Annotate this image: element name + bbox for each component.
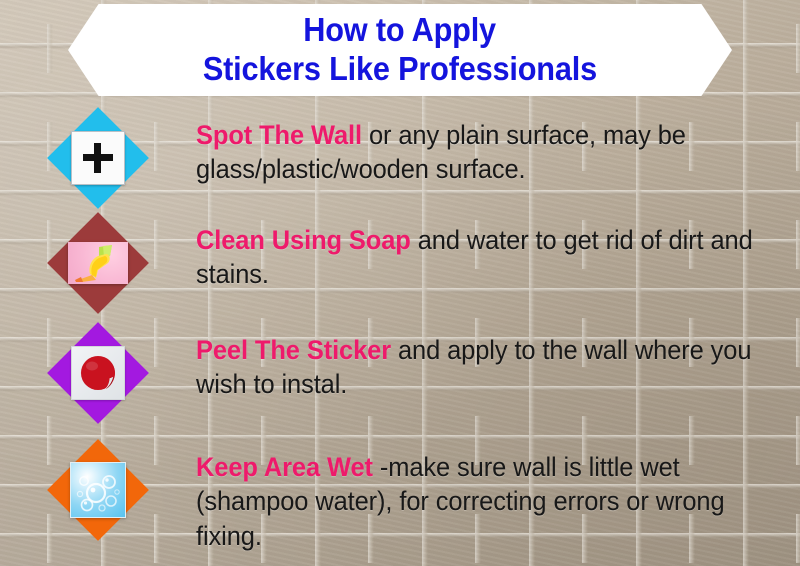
step-2-diamond [47, 212, 149, 314]
step-3-icon-cell [0, 323, 196, 409]
step-1-diamond [47, 107, 149, 209]
title-line-2: Stickers Like Professionals [203, 50, 597, 89]
infographic-canvas: How to Apply Stickers Like Professionals… [0, 0, 800, 566]
peeling-sticker-icon [71, 346, 125, 400]
step-4-lead: Keep Area Wet [196, 452, 373, 482]
step-row-4: Keep Area Wet -make sure wall is little … [0, 440, 800, 553]
step-3-lead: Peel The Sticker [196, 335, 391, 365]
cleaning-glove-icon [68, 242, 128, 284]
step-row-3: Peel The Sticker and apply to the wall w… [0, 323, 800, 409]
title-banner: How to Apply Stickers Like Professionals [68, 4, 732, 96]
step-4-diamond [47, 439, 149, 541]
glove-sponge-graphic [72, 244, 122, 282]
step-4-text: Keep Area Wet -make sure wall is little … [196, 440, 776, 553]
step-3-text: Peel The Sticker and apply to the wall w… [196, 323, 776, 402]
bubbles-graphic [71, 463, 125, 517]
step-2-text: Clean Using Soap and water to get rid of… [196, 213, 776, 292]
step-2-icon-cell [0, 213, 196, 299]
plus-glyph [83, 143, 113, 173]
step-3-diamond [47, 322, 149, 424]
step-2-lead: Clean Using Soap [196, 225, 411, 255]
step-1-lead: Spot The Wall [196, 120, 362, 150]
step-1-icon-cell [0, 108, 196, 194]
water-bubbles-icon [70, 462, 126, 518]
step-row-1: Spot The Wall or any plain surface, may … [0, 108, 800, 194]
step-1-text: Spot The Wall or any plain surface, may … [196, 108, 776, 187]
title-line-1: How to Apply [304, 11, 497, 50]
sticker-graphic [80, 355, 116, 391]
step-row-2: Clean Using Soap and water to get rid of… [0, 213, 800, 299]
plus-sign-icon [71, 131, 125, 185]
step-4-icon-cell [0, 440, 196, 526]
